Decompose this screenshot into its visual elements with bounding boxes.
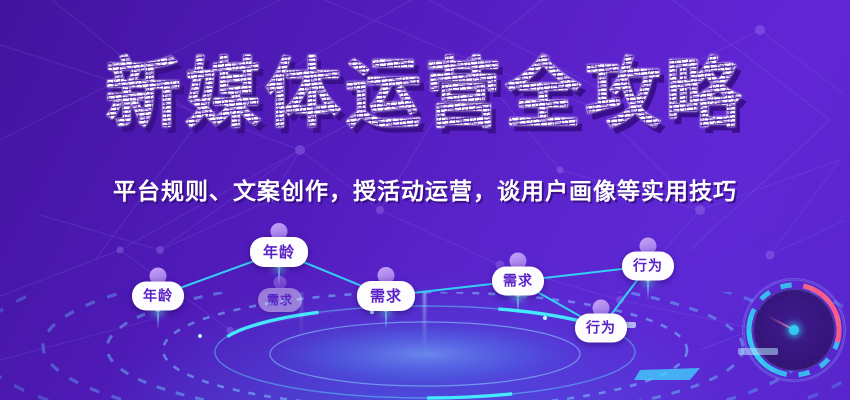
node-label: 需求 <box>492 267 544 296</box>
node-pin <box>517 293 519 315</box>
node-pin <box>385 308 387 330</box>
node-label: 年龄 <box>132 282 184 311</box>
node-label: 年龄 <box>250 237 308 267</box>
speedometer-gauge <box>742 278 846 382</box>
node-label: 行为 <box>575 314 627 343</box>
gauge-base-bar <box>738 348 778 355</box>
node-label: 需求 <box>357 281 415 311</box>
node-label: 需求 <box>258 288 302 312</box>
network-node-行为[interactable]: 行为 <box>622 252 674 281</box>
network-nodes: 年龄年龄需求需求需求行为行为 <box>0 0 850 400</box>
node-pin <box>647 278 649 300</box>
banner-root: 新媒体运营全攻略 新媒体运营全攻略 新媒体运营全攻略 平台规则、文案创作，授活动… <box>0 0 850 400</box>
node-label: 行为 <box>622 252 674 281</box>
network-node-年龄[interactable]: 年龄 <box>250 237 308 267</box>
network-node-年龄[interactable]: 年龄 <box>132 282 184 311</box>
network-node-需求[interactable]: 需求 <box>357 281 415 311</box>
gauge-hub <box>789 325 799 335</box>
node-pin <box>157 308 159 330</box>
network-node-需求[interactable]: 需求 <box>492 267 544 296</box>
network-node-需求[interactable]: 需求 <box>258 288 302 312</box>
network-node-行为[interactable]: 行为 <box>575 314 627 343</box>
